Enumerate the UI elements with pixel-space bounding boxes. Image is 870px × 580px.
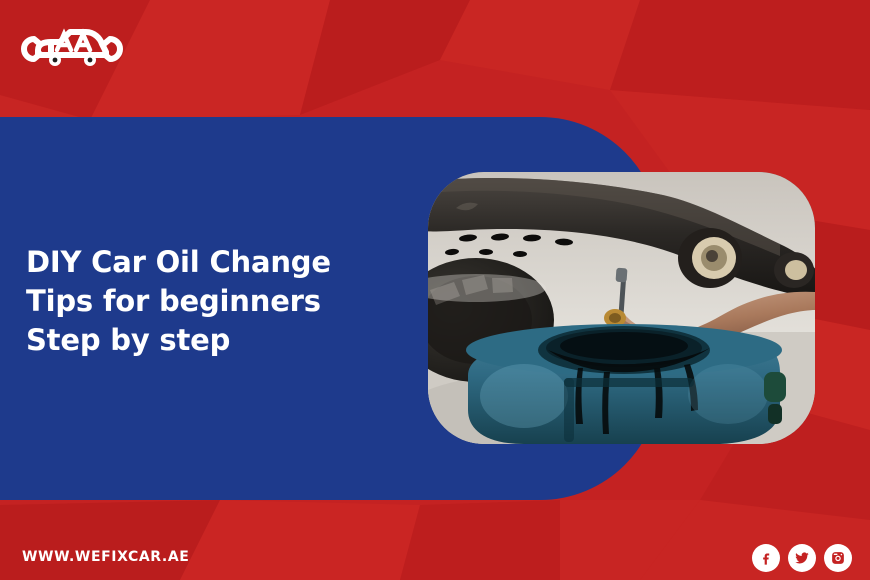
promo-banner: DIY Car Oil Change Tips for beginners St… bbox=[0, 0, 870, 580]
instagram-icon[interactable] bbox=[824, 544, 852, 572]
facebook-icon[interactable] bbox=[752, 544, 780, 572]
footer-website-url[interactable]: WWW.WEFIXCAR.AE bbox=[22, 549, 189, 565]
twitter-icon[interactable] bbox=[788, 544, 816, 572]
page-title: DIY Car Oil Change Tips for beginners St… bbox=[26, 243, 406, 360]
brand-logo[interactable] bbox=[20, 22, 124, 74]
hero-photo bbox=[428, 172, 815, 444]
social-links bbox=[752, 544, 852, 572]
